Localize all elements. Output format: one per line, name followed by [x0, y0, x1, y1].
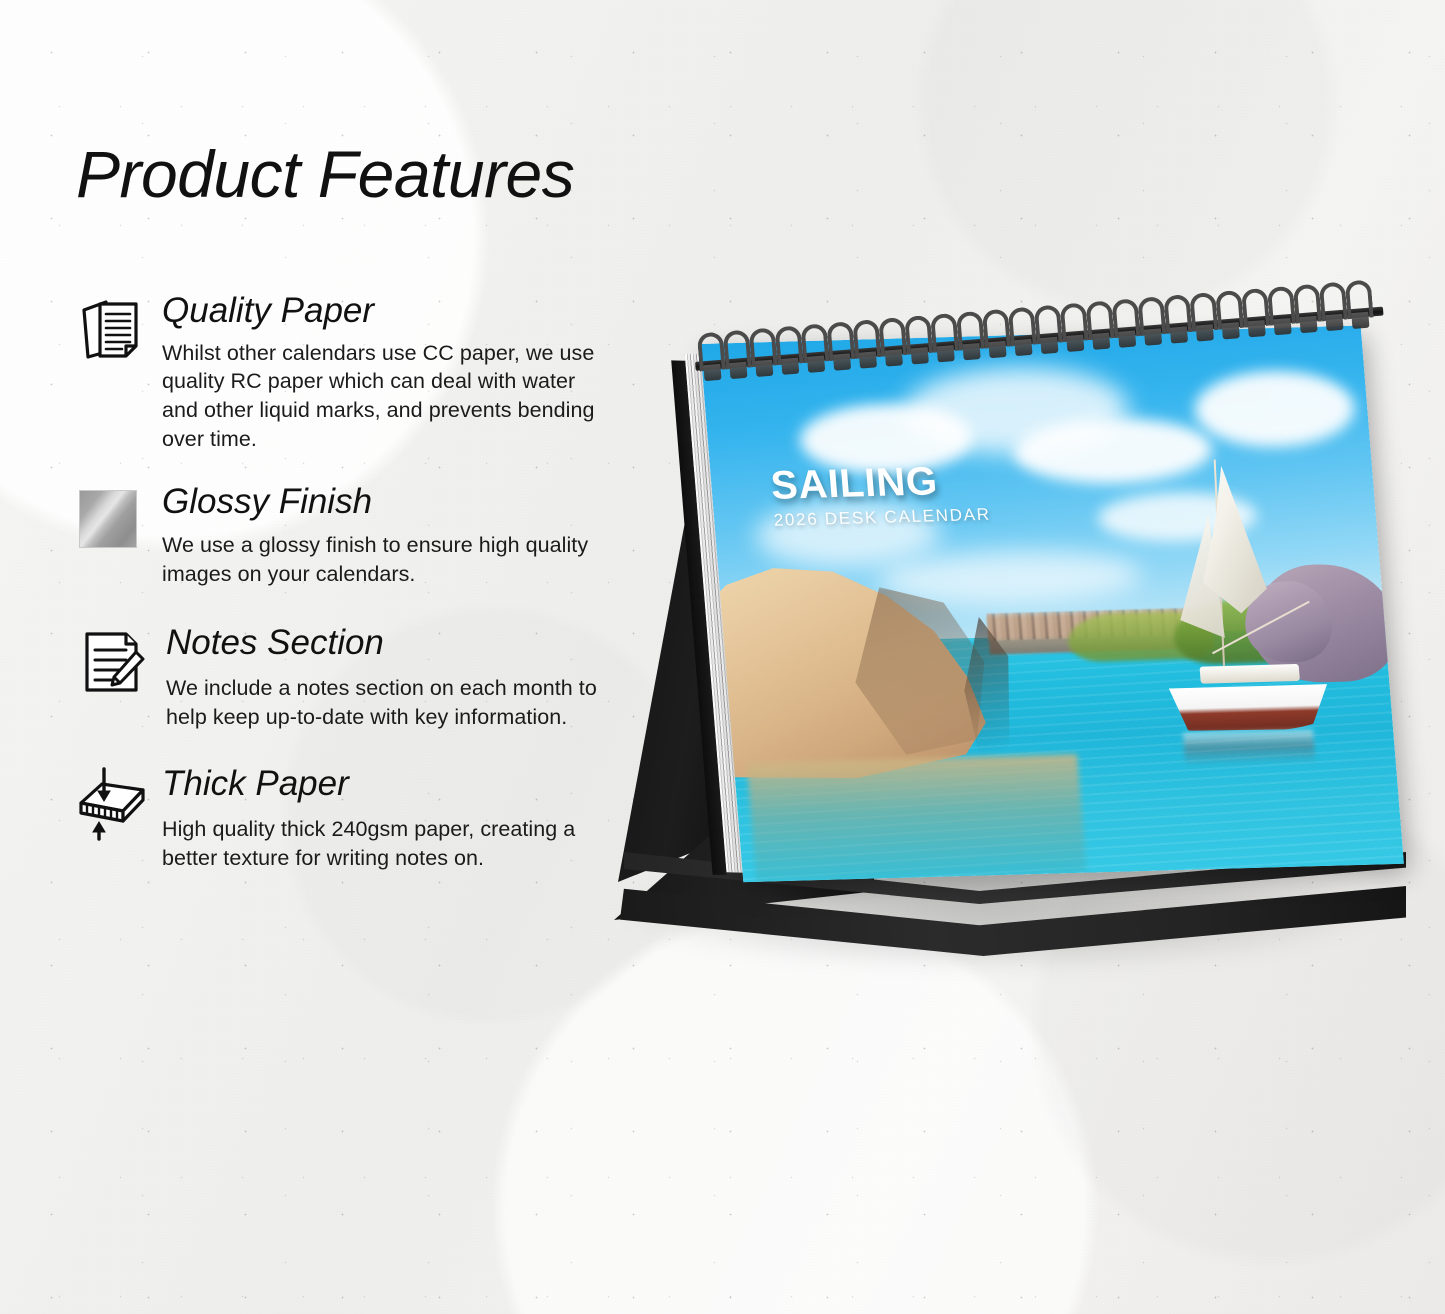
boat-mainsail	[1179, 465, 1276, 667]
glossy-gradient-square	[79, 490, 137, 548]
binding-loop-tail	[1248, 320, 1266, 337]
boat-reflection	[1183, 729, 1316, 767]
binding-loop-tail	[703, 364, 721, 381]
photo-felucca-sailboat	[1107, 456, 1359, 807]
binding-loop-tail	[781, 358, 799, 375]
feature-heading: Thick Paper	[162, 765, 630, 803]
product-features-page: Product Features	[0, 0, 1445, 1314]
feature-item-thick-paper: Thick Paper High quality thick 240gsm pa…	[70, 765, 630, 872]
binding-loop-tail	[963, 343, 981, 360]
boat-hull	[1165, 684, 1330, 733]
desk-calendar-mockup: SAILING 2026 DESK CALENDAR	[600, 330, 1400, 1010]
feature-heading: Glossy Finish	[162, 483, 630, 521]
cover-photograph: SAILING 2026 DESK CALENDAR	[700, 326, 1404, 883]
binding-loop-tail	[1222, 322, 1240, 339]
binding-loop-tail	[1014, 339, 1032, 356]
binding-loop-tail	[1170, 326, 1188, 343]
binding-loop-tail	[755, 360, 773, 377]
feature-body: Whilst other calendars use CC paper, we …	[162, 339, 614, 453]
feature-item-quality-paper: Quality Paper Whilst other calendars use…	[70, 292, 630, 453]
binding-loop-tail	[1118, 330, 1136, 347]
page-title: Product Features	[76, 136, 574, 212]
feature-body: We include a notes section on each month…	[166, 674, 618, 731]
binding-loop-tail	[859, 351, 877, 368]
documents-stack-icon	[76, 294, 150, 368]
binding-loop-tail	[937, 345, 955, 362]
photo-rock-reflection	[747, 754, 1087, 882]
cover-title: SAILING	[769, 460, 989, 506]
binding-loop-tail	[1274, 318, 1292, 335]
binding-loop-tail	[1196, 324, 1214, 341]
paper-thickness-icon	[76, 767, 150, 841]
feature-item-glossy-finish: Glossy Finish We use a glossy finish to …	[70, 483, 630, 588]
binding-loop-tail	[988, 341, 1006, 358]
feature-body: We use a glossy finish to ensure high qu…	[162, 531, 614, 588]
feature-list: Quality Paper Whilst other calendars use…	[70, 292, 630, 898]
feature-body: High quality thick 240gsm paper, creatin…	[162, 815, 614, 872]
feature-heading: Quality Paper	[162, 292, 630, 330]
binding-loop-tail	[1040, 337, 1058, 354]
binding-loop-tail	[1299, 316, 1317, 333]
glossy-swatch-icon	[76, 485, 150, 559]
feature-item-notes-section: Notes Section We include a notes section…	[70, 624, 630, 731]
feature-heading: Notes Section	[166, 624, 630, 662]
binding-loop-tail	[911, 347, 929, 364]
binding-loop-tail	[1351, 312, 1369, 329]
cover-text-block: SAILING 2026 DESK CALENDAR	[769, 460, 991, 531]
boat-canopy	[1200, 664, 1300, 684]
binding-loop-tail	[833, 353, 851, 370]
binding-loop-tail	[1325, 314, 1343, 331]
binding-loop-tail	[1092, 333, 1110, 350]
binding-loop-tail	[729, 362, 747, 379]
binding-loop-tail	[1144, 328, 1162, 345]
binding-loop-tail	[1066, 335, 1084, 352]
binding-loop-tail	[885, 349, 903, 366]
calendar-cover-page: SAILING 2026 DESK CALENDAR	[700, 326, 1404, 883]
binding-loop-tail	[807, 356, 825, 373]
boat-boom	[1212, 601, 1310, 655]
note-pencil-icon	[76, 626, 150, 700]
